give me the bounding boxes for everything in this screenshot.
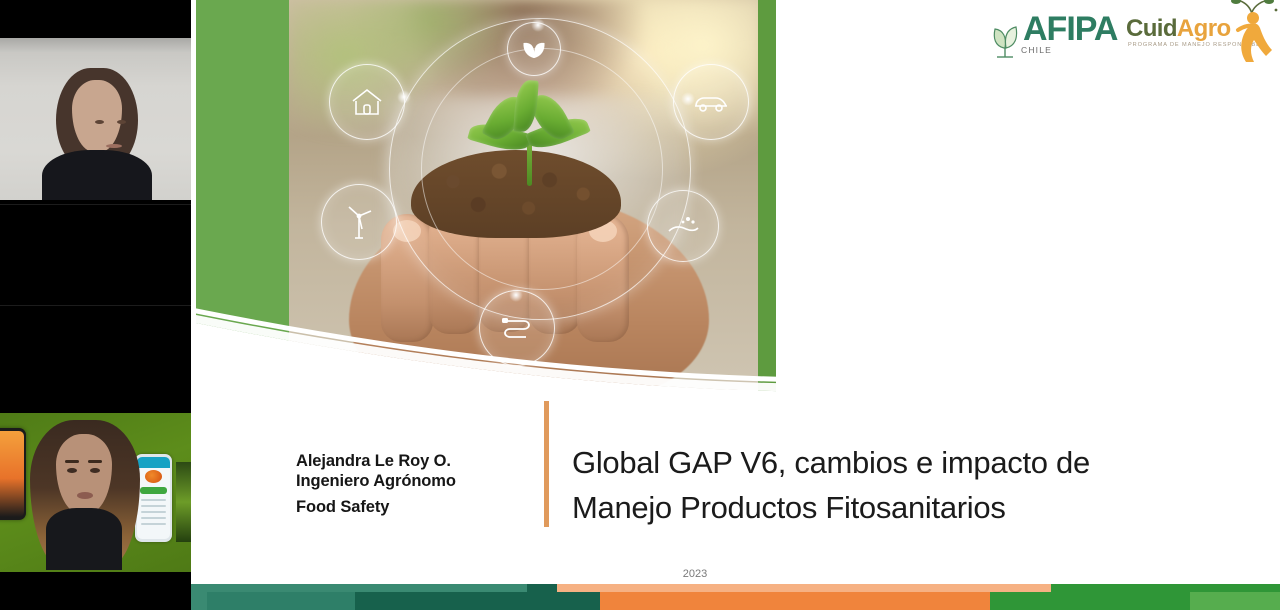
participant-avatar-4 (30, 420, 140, 570)
phone-mockup-right (135, 454, 172, 542)
letterbox-bottom (0, 200, 191, 203)
segment-teal-dark (527, 584, 557, 592)
app-text-line (141, 511, 166, 513)
app-text-line (141, 517, 166, 519)
phone-screen (0, 431, 24, 517)
title-divider-rule (544, 401, 549, 527)
participant-video-2[interactable] (0, 204, 191, 304)
bottom-color-bar-bottom (191, 592, 1280, 610)
presenter-role-1: Ingeniero Agrónomo (296, 472, 528, 492)
letterbox-top (0, 0, 191, 38)
letterbox-bottom (0, 572, 191, 610)
face (72, 80, 122, 152)
title-line-2: Manejo Productos Fitosanitarios (572, 485, 1232, 530)
tile-divider (0, 305, 191, 306)
wind-turbine-icon (321, 184, 397, 260)
eye-left (95, 120, 104, 124)
presenter-role-2: Food Safety (296, 498, 528, 518)
page-title: Global GAP V6, cambios e impacto de Mane… (572, 440, 1232, 530)
participant-video-3[interactable] (0, 305, 191, 405)
segment-teal-mid (207, 592, 355, 610)
segment-green-dark (1051, 584, 1280, 592)
decorative-ring-inner (421, 48, 663, 290)
segment-teal-dark (355, 592, 600, 610)
mouth (77, 492, 93, 499)
afipa-plant-icon (991, 14, 1021, 60)
eye-right (117, 120, 126, 124)
mouth (106, 144, 122, 148)
water-hand-icon (647, 190, 719, 262)
decorative-swoosh (191, 296, 811, 416)
eyebrow-right (88, 460, 102, 463)
participant-avatar-1 (56, 68, 138, 203)
presenter-info: Alejandra Le Roy O. Ingeniero Agrónomo F… (296, 452, 528, 518)
segment-orange (557, 584, 1051, 592)
participant-video-1[interactable] (0, 0, 191, 203)
afipa-logo: AFIPA CHILE (991, 12, 1126, 62)
segment-teal-light (191, 592, 207, 610)
app-button (140, 487, 167, 494)
segment-orange (600, 592, 990, 610)
screen-share-window: AFIPA CHILE CuidAgro PROGRAMA DE MANEJO … (0, 0, 1280, 610)
cuidagro-figure-icon (1222, 0, 1280, 64)
app-header (137, 457, 170, 468)
app-text-line (141, 505, 166, 507)
lens-flare (397, 90, 411, 104)
torso (42, 150, 152, 203)
eye-left (67, 468, 77, 473)
app-text-line (141, 499, 166, 501)
segment-green-light (1190, 592, 1280, 610)
eyebrow-left (65, 460, 79, 463)
bottom-color-bar-top (191, 584, 1280, 592)
slide-year: 2023 (640, 568, 750, 580)
house-icon (329, 64, 405, 140)
afipa-wordmark: AFIPA (1023, 12, 1117, 46)
eye-right (90, 468, 100, 473)
lens-flare (681, 92, 695, 106)
lens-flare (531, 18, 545, 32)
phone-mockup-left (0, 428, 26, 520)
presentation-slide: AFIPA CHILE CuidAgro PROGRAMA DE MANEJO … (191, 0, 1280, 610)
phone-screen (137, 457, 170, 539)
app-text-line (141, 523, 166, 525)
cuidagro-wordmark: CuidAgro (1126, 16, 1231, 42)
letterbox-top (0, 406, 191, 413)
insect-image (145, 470, 162, 483)
title-line-1: Global GAP V6, cambios e impacto de (572, 440, 1232, 485)
shelf-item (176, 462, 191, 542)
segment-green-dark (990, 592, 1190, 610)
video-filmstrip (0, 0, 191, 610)
participant-video-4[interactable] (0, 406, 191, 610)
tile-divider (0, 204, 191, 205)
cuidagro-word-part-1: Cuid (1126, 15, 1177, 42)
cuidagro-logo: CuidAgro PROGRAMA DE MANEJO RESPONSABLE (1126, 14, 1276, 68)
presenter-name: Alejandra Le Roy O. (296, 452, 528, 472)
segment-teal-light (191, 584, 527, 592)
torso (46, 508, 122, 570)
afipa-subtitle: CHILE (1021, 45, 1052, 55)
logo-group: AFIPA CHILE CuidAgro PROGRAMA DE MANEJO … (986, 4, 1276, 72)
